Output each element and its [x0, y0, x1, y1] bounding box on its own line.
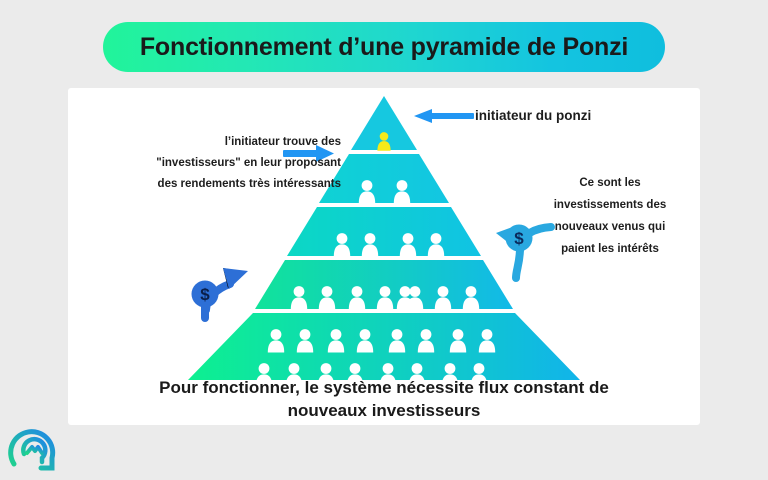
dollar-badge-right-icon: $: [506, 225, 533, 279]
annotation-right: Ce sont les investissements des nouveaux…: [530, 172, 690, 260]
annotation-right-line4: paient les intérêts: [530, 238, 690, 260]
page-title: Fonctionnement d’une pyramide de Ponzi: [140, 33, 628, 62]
content-card: $ $ initiateur du ponzi l’initiateur tro…: [68, 88, 700, 425]
annotation-initiator: initiateur du ponzi: [475, 108, 591, 123]
annotation-left-line3: des rendements très intéressants: [101, 174, 341, 195]
pyramid-tier-1: [351, 96, 417, 151]
title-pill: Fonctionnement d’une pyramide de Ponzi: [103, 22, 665, 72]
svg-text:$: $: [200, 285, 210, 304]
annotation-right-line2: investissements des: [530, 194, 690, 216]
annotation-left-line1: l’initiateur trouve des: [101, 132, 341, 153]
caption-line2: nouveaux investisseurs: [88, 399, 680, 422]
annotation-left: l’initiateur trouve des "investisseurs" …: [101, 132, 341, 195]
pyramid-tier-4: [255, 260, 513, 310]
brand-logo-icon[interactable]: [8, 424, 62, 474]
slide-canvas: Fonctionnement d’une pyramide de Ponzi: [0, 0, 768, 480]
top-right-arrow-icon: [414, 109, 474, 123]
caption: Pour fonctionner, le système nécessite f…: [88, 376, 680, 422]
annotation-left-line2: "investisseurs" en leur proposant: [101, 153, 341, 174]
annotation-initiator-text: initiateur du ponzi: [475, 108, 591, 123]
caption-line1: Pour fonctionner, le système nécessite f…: [88, 376, 680, 399]
annotation-right-line3: nouveaux venus qui: [530, 216, 690, 238]
pyramid-tier-3: [287, 207, 481, 257]
annotation-right-line1: Ce sont les: [530, 172, 690, 194]
svg-text:$: $: [514, 229, 524, 248]
